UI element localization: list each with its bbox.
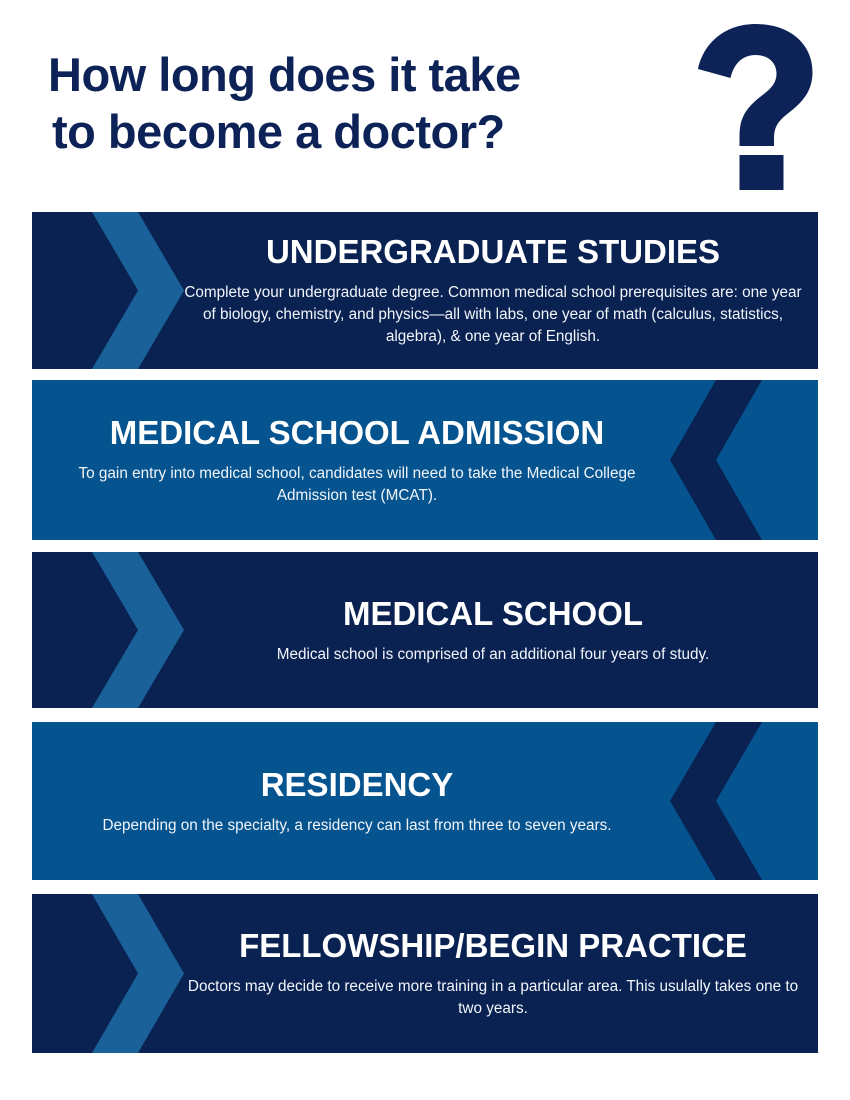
step-band-5: FELLOWSHIP/BEGIN PRACTICE Doctors may de… xyxy=(32,894,818,1053)
step-content-4: RESIDENCY Depending on the specialty, a … xyxy=(46,722,668,880)
step-band-2: MEDICAL SCHOOL ADMISSION To gain entry i… xyxy=(32,380,818,540)
step-body-4: Depending on the specialty, a residency … xyxy=(102,815,611,837)
infographic-page: How long does it take to become a doctor… xyxy=(0,0,850,1100)
chevron-left-icon xyxy=(670,380,790,540)
step-band-1: UNDERGRADUATE STUDIES Complete your unde… xyxy=(32,212,818,369)
page-title-line-1: How long does it take xyxy=(48,46,688,103)
chevron-right-icon xyxy=(64,894,184,1053)
step-content-2: MEDICAL SCHOOL ADMISSION To gain entry i… xyxy=(46,380,668,540)
chevron-right-icon xyxy=(64,552,184,708)
page-title: How long does it take to become a doctor… xyxy=(48,46,688,160)
step-body-5: Doctors may decide to receive more train… xyxy=(183,976,803,1020)
step-content-1: UNDERGRADUATE STUDIES Complete your unde… xyxy=(182,212,804,369)
page-title-line-2: to become a doctor? xyxy=(48,103,688,160)
step-band-4: RESIDENCY Depending on the specialty, a … xyxy=(32,722,818,880)
chevron-left-icon xyxy=(670,722,790,880)
step-body-3: Medical school is comprised of an additi… xyxy=(277,644,710,666)
step-title-4: RESIDENCY xyxy=(261,766,454,804)
chevron-right-icon xyxy=(64,212,184,369)
step-content-5: FELLOWSHIP/BEGIN PRACTICE Doctors may de… xyxy=(182,894,804,1053)
step-body-2: To gain entry into medical school, candi… xyxy=(47,463,667,507)
question-mark-icon xyxy=(694,22,820,192)
step-content-3: MEDICAL SCHOOL Medical school is compris… xyxy=(182,552,804,708)
step-title-2: MEDICAL SCHOOL ADMISSION xyxy=(110,414,604,452)
step-title-1: UNDERGRADUATE STUDIES xyxy=(266,233,720,271)
header: How long does it take to become a doctor… xyxy=(0,0,850,212)
step-band-3: MEDICAL SCHOOL Medical school is compris… xyxy=(32,552,818,708)
step-body-1: Complete your undergraduate degree. Comm… xyxy=(183,282,803,348)
step-title-5: FELLOWSHIP/BEGIN PRACTICE xyxy=(239,927,747,965)
step-title-3: MEDICAL SCHOOL xyxy=(343,595,643,633)
